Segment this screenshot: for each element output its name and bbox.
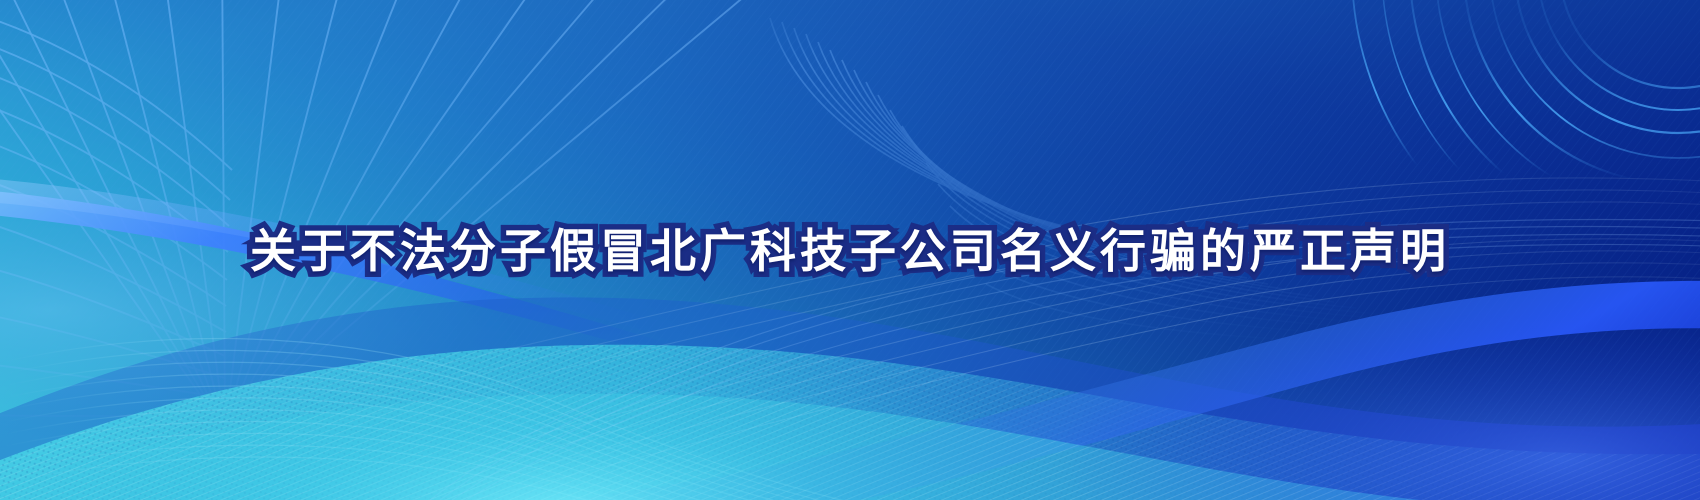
announcement-banner: 关于不法分子假冒北广科技子公司名义行骗的严正声明 — [0, 0, 1700, 500]
cyan-glow-bottom-right — [0, 0, 1700, 500]
